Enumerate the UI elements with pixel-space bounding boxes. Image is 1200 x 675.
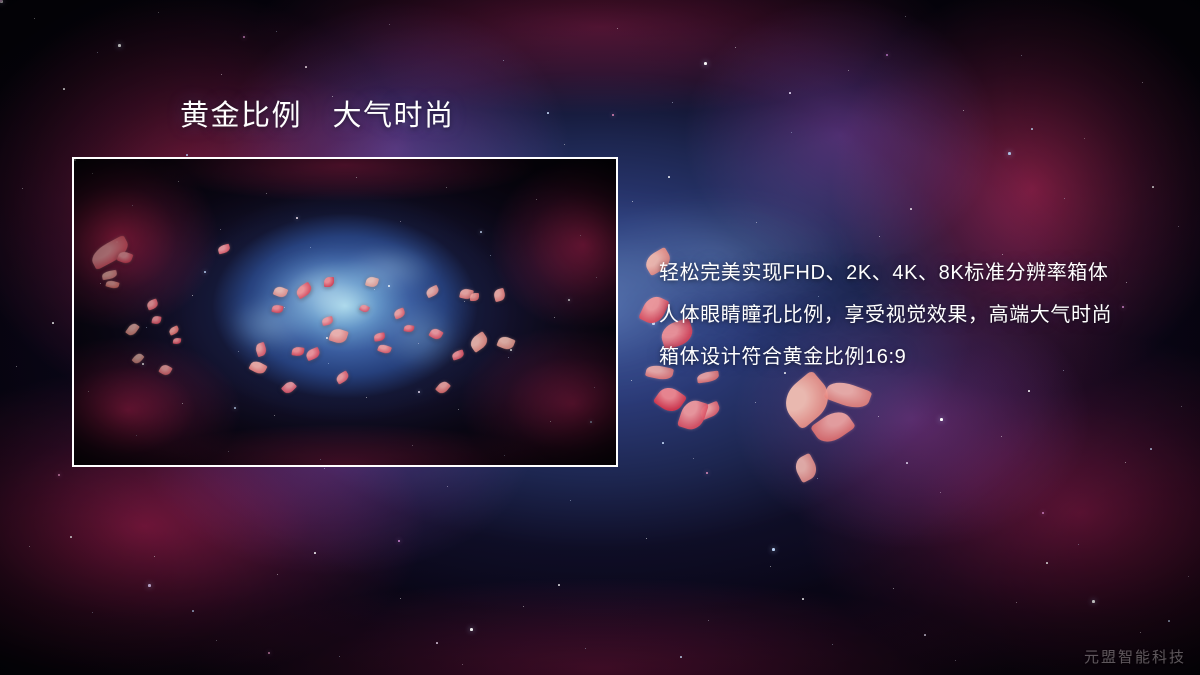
watermark-brand: 元盟智能科技 (1084, 646, 1186, 667)
body-line-2: 人体眼睛瞳孔比例，享受视觉效果，高端大气时尚 (659, 294, 1159, 336)
petal-shape (792, 453, 821, 484)
petal-shape (810, 405, 856, 448)
petal-shape (777, 370, 838, 430)
body-text-block: 轻松完美实现FHD、2K、4K、8K标准分辨率箱体 人体眼睛瞳孔比例，享受视觉效… (659, 252, 1159, 378)
framed-image-vignette (74, 159, 616, 465)
slide-canvas: 黄金比例 大气时尚 轻松完美实现FHD、2K、4K、8K标准分辨率箱体 人体眼睛… (0, 0, 1200, 675)
petal-shape (698, 401, 721, 421)
framed-image-content (74, 159, 616, 465)
framed-image (72, 157, 618, 467)
petal-shape (653, 383, 687, 417)
page-title: 黄金比例 大气时尚 (180, 100, 455, 133)
petal-shape (677, 397, 709, 433)
body-line-3: 箱体设计符合黄金比例16:9 (659, 336, 1159, 378)
body-line-1: 轻松完美实现FHD、2K、4K、8K标准分辨率箱体 (659, 252, 1159, 294)
petal-shape (824, 377, 873, 413)
